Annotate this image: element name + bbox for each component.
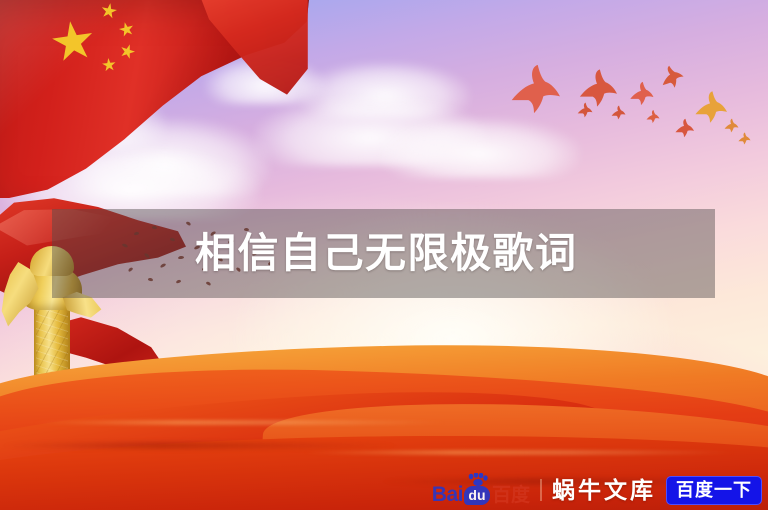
watermark-divider <box>540 479 542 501</box>
baidu-bai-text: Bai <box>432 484 463 505</box>
baidu-chinese-text: 百度 <box>492 486 530 505</box>
hill-highlight <box>30 420 450 425</box>
site-brand-name: 蜗牛文库 <box>552 479 656 502</box>
footer-watermark: Bai du 百度 蜗牛文库 百度一下 <box>432 470 768 510</box>
baidu-search-button[interactable]: 百度一下 <box>666 476 762 505</box>
paw-print-icon <box>467 473 489 486</box>
dove-icon <box>645 109 660 124</box>
title-overlay-band: 相信自己无限极歌词 <box>52 209 715 298</box>
hill-highlight <box>300 450 740 455</box>
image-canvas: 相信自己无限极歌词 Bai du 百度 蜗牛文库 <box>0 0 768 510</box>
page-title: 相信自己无限极歌词 <box>195 233 578 274</box>
dove-icon <box>737 132 751 145</box>
baidu-logo[interactable]: Bai du 百度 <box>432 475 530 505</box>
dove-icon <box>673 118 695 138</box>
dove-icon <box>610 105 626 120</box>
dove-icon <box>576 102 593 118</box>
hill-shadow <box>0 442 400 449</box>
baidu-du-group: du <box>464 475 490 505</box>
dove-icon <box>627 81 655 106</box>
dove-icon <box>723 118 739 133</box>
china-national-flag <box>0 0 310 198</box>
baidu-du-text: du <box>464 486 490 505</box>
dove-icon <box>506 63 562 115</box>
